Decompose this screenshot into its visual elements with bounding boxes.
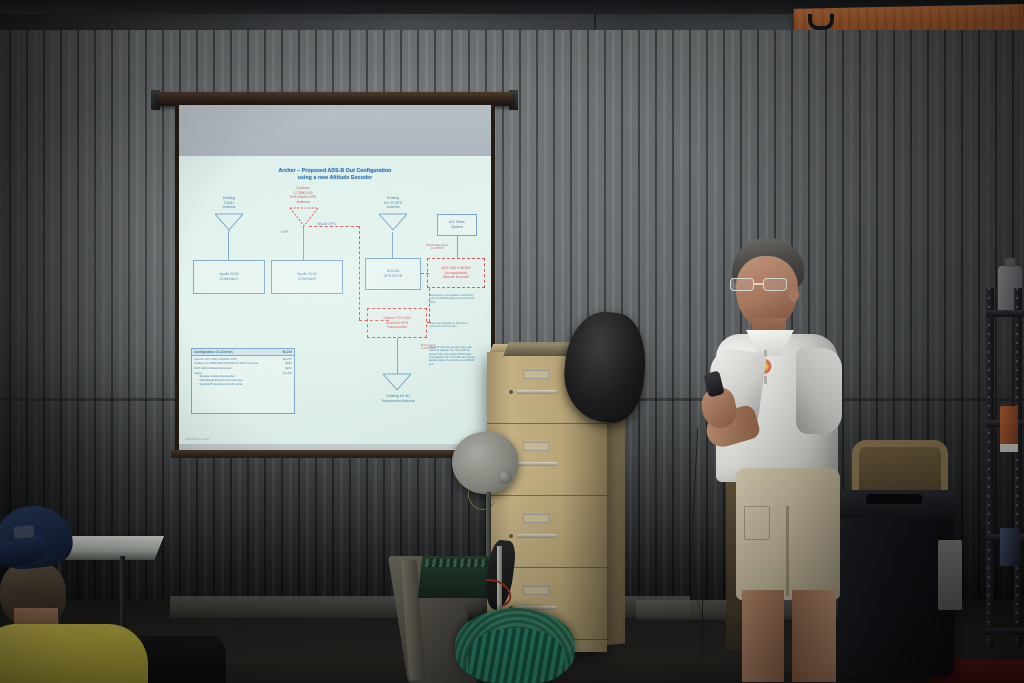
cost-table-header-label: Configuration #1 (Archer): [194, 350, 233, 354]
diagram-edge-waas-gps-vert: [359, 226, 360, 320]
cost-row-value: $240: [285, 366, 292, 370]
diagram-edge-gtx-to-ant: [397, 338, 398, 374]
diagram-label-ka92-antenna: Existing KA-92 GPS Antenna: [365, 196, 421, 210]
diagram-edge-com1: [228, 232, 229, 260]
shelf-post: [1014, 288, 1022, 648]
drawer-label-holder: [523, 514, 549, 523]
eyeglass-lens-left: [730, 278, 754, 291]
presenter-right-sleeve: [796, 348, 842, 434]
shelf-plank: [986, 628, 1024, 635]
antenna-icon-cobham: [287, 206, 321, 228]
power-cable: [702, 538, 732, 658]
cost-row-value: $1,300: [283, 371, 292, 375]
screen-roller-bar: [157, 92, 513, 106]
shorts-seam: [786, 506, 789, 596]
diagram-label-cobham-antenna: Cobham CI 2580-200 VHF/WAAS GPS Antenna: [271, 186, 335, 204]
slide-title-line-2: using a new Altitude Encoder: [179, 175, 491, 182]
fan-knob[interactable]: [498, 470, 512, 484]
diagram-node-ack-encoder: ACK A30.9 MOD9 (or equivalent) Altitude …: [427, 258, 485, 288]
diagram-node-sl30-comnav2: Apollo SL30 COM/NAV2: [271, 260, 343, 294]
diagram-edge-kln-to-ack: [421, 273, 429, 274]
antenna-icon-ka92: [377, 212, 409, 232]
trash-bag-liner: [938, 540, 962, 610]
diagram-label-ka60-antenna: Existing KA-60 Transponder Antenna: [365, 394, 431, 403]
drawer-handle[interactable]: [517, 390, 557, 394]
slide-footer: ADS-B Brief – Archer: [185, 438, 209, 441]
antenna-icon-ka60: [381, 372, 413, 392]
metal-hook-icon: [808, 14, 834, 30]
antenna-icon-com1: [213, 212, 245, 232]
cost-table-note: * Install GPS antenna incl'g RF cable: [192, 383, 294, 387]
drawer-lock-icon: [509, 390, 513, 394]
diagram-node-kln94: KLN-94 GPS RCVR: [365, 258, 421, 290]
screen-unprojected-strip: [179, 105, 491, 157]
diagram-edge-waas-gps-horiz: [309, 226, 359, 227]
diagram-label-rs232-output: RS232 data output to GTX345: [415, 244, 459, 251]
drawer-lock-icon: [509, 534, 513, 538]
photo-scene: Archer – Proposed ADS-B Out Configuratio…: [0, 0, 1024, 683]
shelf-can: [1000, 406, 1018, 446]
cost-row-label: ACK A30.9 Altitude Encoder: [194, 366, 231, 370]
presenter-leg-left: [742, 590, 784, 682]
presenter-leg-right: [792, 590, 836, 682]
diagram-node-ac-static: A/C Static System: [437, 214, 477, 236]
drawer-label-holder: [523, 586, 549, 595]
shelf-can: [1000, 528, 1020, 566]
projected-slide: Archer – Proposed ADS-B Out Configuratio…: [179, 156, 491, 444]
cost-table-header-value: $6,235: [282, 350, 292, 354]
shelf-post: [986, 288, 994, 648]
eyeglass-bridge: [754, 283, 763, 285]
drawer-handle[interactable]: [517, 534, 557, 538]
diagram-label-vhf: VHF: [281, 230, 305, 235]
slide-title: Archer – Proposed ADS-B Out Configuratio…: [179, 168, 491, 183]
slide-side-note: The GTX-345 only accepts Gray code input…: [429, 346, 477, 366]
audience-yellow-shirt: [0, 624, 148, 683]
eyeglass-lens-right: [763, 278, 787, 291]
diagram-edge-vhf: [303, 226, 304, 260]
cost-table: Configuration #1 (Archer) $6,235 Garmin …: [191, 348, 295, 414]
projection-screen: Archer – Proposed ADS-B Out Configuratio…: [157, 92, 513, 464]
shelf-plank: [986, 310, 1024, 317]
diagram-node-sl30-comnav1: Apollo SL30 COM/NAV1: [193, 260, 265, 294]
cap-patch: [13, 525, 34, 539]
diagram-node-gtx345: Garmin GTX-345 w/WAAS GPS Transponder: [367, 308, 427, 338]
diagram-label-com1-antenna: Existing COM1 Antenna: [201, 196, 257, 210]
drawer-label-holder: [523, 370, 549, 379]
presenter: [700, 238, 860, 683]
drawer-handle[interactable]: [517, 462, 557, 466]
cost-row-label: Garmin GTX-345 w/WAAS GPS: [194, 357, 237, 361]
cost-table-header: Configuration #1 (Archer) $6,235: [192, 349, 294, 356]
cost-row-value: $820: [285, 361, 292, 365]
slide-side-note: Gray code resolution is 100 ft feet; res…: [429, 322, 477, 329]
eyeglasses-icon: [730, 278, 792, 291]
trash-slot: [866, 494, 922, 504]
cost-row-label: Cobham CI 2580-200 VHF/WAAS GPS Antenna: [194, 361, 258, 365]
slide-side-note: Repeatedly a unit capable of both Gray c…: [429, 294, 477, 304]
cost-row-value: $3,875: [283, 357, 292, 361]
garden-hose-coil: [468, 628, 564, 683]
drawer-label-holder: [523, 442, 549, 451]
diagram-edge-ka92: [392, 232, 393, 258]
shorts-pocket: [744, 506, 770, 540]
screen-bottom-bar: [171, 450, 499, 458]
metal-shelving-unit: [986, 288, 1024, 648]
